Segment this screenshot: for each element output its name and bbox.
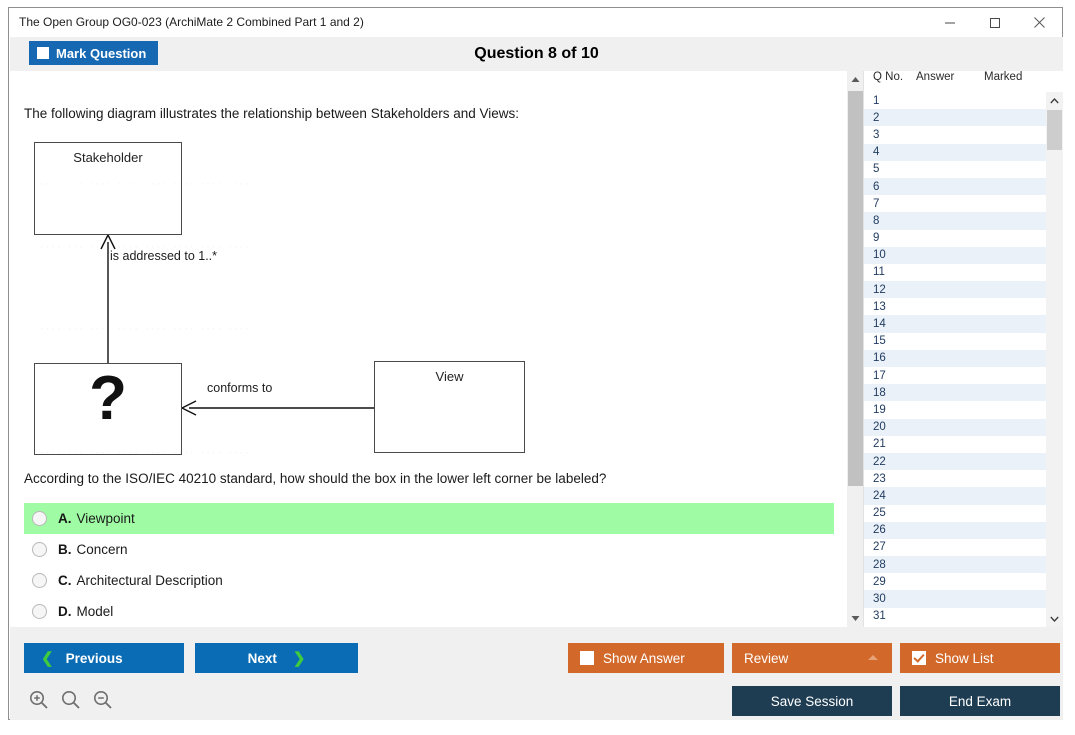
row-qno: 28: [864, 559, 916, 571]
row-qno: 6: [864, 181, 916, 193]
question-list-row[interactable]: 14: [864, 315, 1046, 332]
show-list-checkbox-icon[interactable]: [912, 651, 926, 665]
row-qno: 31: [864, 610, 916, 622]
panel-scrollbar[interactable]: [847, 71, 864, 627]
question-list-row[interactable]: 10: [864, 247, 1046, 264]
answer-option-b[interactable]: B. Concern: [24, 534, 834, 565]
list-scrollbar-thumb[interactable]: [1047, 110, 1062, 150]
diagram-box-stakeholder: Stakeholder: [34, 142, 182, 235]
header-bar: Question 8 of 10 Mark Question: [10, 37, 1063, 71]
question-list-row[interactable]: 8: [864, 212, 1046, 229]
row-qno: 1: [864, 95, 916, 107]
diagram-edge-label-addressed: is addressed to 1..*: [110, 249, 217, 263]
row-qno: 19: [864, 404, 916, 416]
list-scrollbar[interactable]: [1046, 92, 1063, 627]
row-qno: 26: [864, 524, 916, 536]
bottom-toolbar: ❮ Previous Next ❯ Show Answer Review Sho…: [10, 627, 1063, 720]
option-text: Viewpoint: [77, 511, 135, 526]
question-prompt: According to the ISO/IEC 40210 standard,…: [24, 471, 606, 486]
question-list-row[interactable]: 13: [864, 298, 1046, 315]
row-qno: 17: [864, 370, 916, 382]
show-answer-button[interactable]: Show Answer: [568, 643, 724, 673]
question-list-row[interactable]: 30: [864, 590, 1046, 607]
column-header-answer: Answer: [916, 71, 984, 92]
row-qno: 4: [864, 146, 916, 158]
option-text: Model: [77, 604, 114, 619]
question-list-row[interactable]: 20: [864, 419, 1046, 436]
row-qno: 3: [864, 129, 916, 141]
panel-scrollbar-thumb[interactable]: [848, 91, 863, 486]
mark-question-button[interactable]: Mark Question: [29, 41, 158, 65]
row-qno: 8: [864, 215, 916, 227]
list-scroll-up-arrow-icon[interactable]: [1046, 92, 1063, 109]
question-list-body: Q No. Answer Marked 12345678910111213141…: [864, 71, 1063, 627]
save-session-label: Save Session: [771, 694, 854, 709]
zoom-controls: [28, 689, 114, 711]
question-list-row[interactable]: 28: [864, 556, 1046, 573]
row-qno: 5: [864, 163, 916, 175]
question-list-row[interactable]: 29: [864, 573, 1046, 590]
row-qno: 24: [864, 490, 916, 502]
row-qno: 30: [864, 593, 916, 605]
question-list-row[interactable]: 31: [864, 608, 1046, 625]
option-letter: A.: [58, 511, 72, 526]
row-qno: 7: [864, 198, 916, 210]
option-text: Concern: [77, 542, 128, 557]
question-counter: Question 8 of 10: [10, 37, 1063, 71]
previous-button-label: Previous: [66, 651, 123, 666]
row-qno: 27: [864, 541, 916, 553]
question-content: The following diagram illustrates the re…: [10, 71, 846, 627]
question-list-row[interactable]: 16: [864, 350, 1046, 367]
row-qno: 14: [864, 318, 916, 330]
question-list-row[interactable]: 3: [864, 126, 1046, 143]
maximize-icon[interactable]: [972, 8, 1017, 37]
question-intro-text: The following diagram illustrates the re…: [24, 106, 519, 121]
row-qno: 16: [864, 352, 916, 364]
exam-window: The Open Group OG0-023 (ArchiMate 2 Comb…: [0, 0, 1075, 735]
row-qno: 12: [864, 284, 916, 296]
question-list-row[interactable]: 15: [864, 333, 1046, 350]
question-list-row[interactable]: 25: [864, 505, 1046, 522]
question-list-row[interactable]: 24: [864, 487, 1046, 504]
question-list-row[interactable]: 1: [864, 92, 1046, 109]
end-exam-button[interactable]: End Exam: [900, 686, 1060, 716]
mark-question-checkbox-icon[interactable]: [37, 47, 49, 59]
question-mark-glyph: ?: [35, 368, 181, 430]
question-list-row[interactable]: 18: [864, 384, 1046, 401]
question-list-row[interactable]: 23: [864, 470, 1046, 487]
zoom-out-icon[interactable]: [92, 689, 114, 711]
chevron-left-icon: ❮: [41, 651, 54, 666]
chevron-right-icon: ❯: [293, 651, 306, 666]
row-qno: 18: [864, 387, 916, 399]
previous-button[interactable]: ❮ Previous: [24, 643, 184, 673]
next-button[interactable]: Next ❯: [195, 643, 358, 673]
question-list-row[interactable]: 11: [864, 264, 1046, 281]
row-qno: 21: [864, 438, 916, 450]
option-letter: B.: [58, 542, 72, 557]
window-controls: [927, 8, 1062, 37]
review-dropdown-button[interactable]: Review: [732, 643, 892, 673]
scroll-up-arrow-icon[interactable]: [847, 71, 864, 88]
question-list-row[interactable]: 12: [864, 281, 1046, 298]
show-list-label: Show List: [935, 651, 994, 666]
relationship-diagram: ···· ··· ···· ···· ···· ···· ···· ···· ·…: [22, 131, 582, 461]
close-icon[interactable]: [1017, 8, 1062, 37]
answer-option-a[interactable]: A. Viewpoint: [24, 503, 834, 534]
radio-icon[interactable]: [32, 573, 47, 588]
row-qno: 11: [864, 266, 916, 278]
radio-icon[interactable]: [32, 542, 47, 557]
question-list-row[interactable]: 2: [864, 109, 1046, 126]
question-list-row[interactable]: 22: [864, 453, 1046, 470]
question-list-row[interactable]: 27: [864, 539, 1046, 556]
question-list-row[interactable]: 21: [864, 436, 1046, 453]
question-list-row[interactable]: 6: [864, 178, 1046, 195]
question-list-row[interactable]: 5: [864, 161, 1046, 178]
column-header-qno: Q No.: [864, 71, 916, 92]
title-bar: The Open Group OG0-023 (ArchiMate 2 Comb…: [9, 8, 1062, 37]
scroll-down-arrow-icon[interactable]: [847, 610, 864, 627]
list-scroll-down-arrow-icon[interactable]: [1046, 610, 1063, 627]
option-text: Architectural Description: [77, 573, 223, 588]
caret-up-icon: [868, 655, 878, 660]
row-qno: 13: [864, 301, 916, 313]
window-title: The Open Group OG0-023 (ArchiMate 2 Comb…: [19, 15, 364, 29]
option-letter: D.: [58, 604, 72, 619]
answer-options: A. Viewpoint B. Concern C. Architectural…: [24, 503, 834, 627]
row-qno: 25: [864, 507, 916, 519]
question-list-row[interactable]: 17: [864, 367, 1046, 384]
row-qno: 23: [864, 473, 916, 485]
minimize-icon[interactable]: [927, 8, 972, 37]
show-answer-checkbox-icon[interactable]: [580, 651, 594, 665]
radio-icon[interactable]: [32, 511, 47, 526]
answer-option-c[interactable]: C. Architectural Description: [24, 565, 834, 596]
diagram-box-label: View: [375, 369, 524, 384]
zoom-in-icon[interactable]: [28, 689, 50, 711]
question-list-row[interactable]: 26: [864, 522, 1046, 539]
answer-option-d[interactable]: D. Model: [24, 596, 834, 627]
question-list-row[interactable]: 4: [864, 144, 1046, 161]
show-answer-label: Show Answer: [603, 651, 685, 666]
diagram-box-label: Stakeholder: [35, 150, 181, 165]
row-qno: 29: [864, 576, 916, 588]
radio-icon[interactable]: [32, 604, 47, 619]
save-session-button[interactable]: Save Session: [732, 686, 892, 716]
show-list-button[interactable]: Show List: [900, 643, 1060, 673]
option-letter: C.: [58, 573, 72, 588]
question-list-panel: Q No. Answer Marked 12345678910111213141…: [847, 71, 1063, 627]
diagram-box-view: View: [374, 361, 525, 453]
row-qno: 9: [864, 232, 916, 244]
question-list-row[interactable]: 19: [864, 401, 1046, 418]
mark-question-label: Mark Question: [56, 46, 146, 61]
diagram-edge-label-conforms: conforms to: [207, 381, 272, 395]
question-list-rows: 1234567891011121314151617181920212223242…: [864, 92, 1046, 627]
row-qno: 20: [864, 421, 916, 433]
column-header-marked: Marked: [984, 71, 1044, 92]
question-list-row[interactable]: 9: [864, 230, 1046, 247]
question-list-row[interactable]: 7: [864, 195, 1046, 212]
review-label: Review: [744, 651, 788, 666]
end-exam-label: End Exam: [949, 694, 1011, 709]
next-button-label: Next: [248, 651, 277, 666]
question-list-header: Q No. Answer Marked: [864, 71, 1063, 92]
diagram-box-unknown: ?: [34, 363, 182, 455]
zoom-reset-icon[interactable]: [60, 689, 82, 711]
row-qno: 15: [864, 335, 916, 347]
row-qno: 22: [864, 456, 916, 468]
window-frame: The Open Group OG0-023 (ArchiMate 2 Comb…: [8, 7, 1063, 720]
row-qno: 2: [864, 112, 916, 124]
row-qno: 10: [864, 249, 916, 261]
